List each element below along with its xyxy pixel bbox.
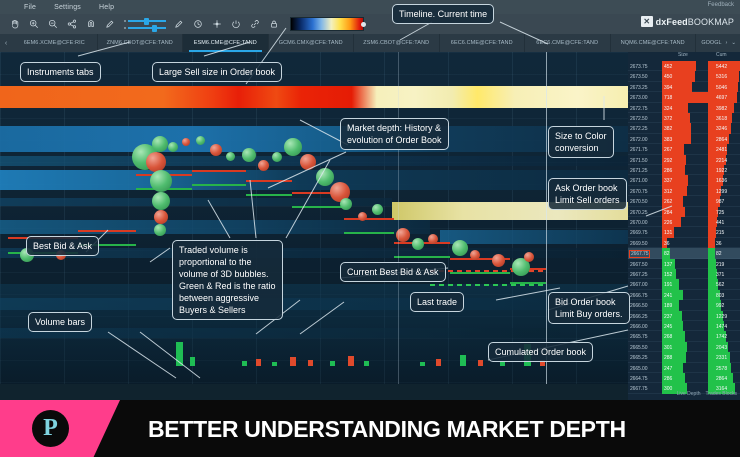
callout-volume-bars: Volume bars (28, 312, 92, 332)
volume-bar (348, 356, 354, 366)
order-book-size-value: 284 (664, 210, 672, 216)
order-book-cumulative-value: 1636 (716, 178, 727, 184)
order-book-size-value: 245 (664, 324, 672, 330)
volume-bar (460, 355, 466, 366)
trade-bubble (182, 138, 190, 146)
callout-last-trade: Last trade (410, 292, 464, 312)
callout-ask-order-book: Ask Order book Limit Sell orders (548, 178, 627, 210)
order-book-size-value: 36 (664, 241, 670, 247)
zoom-out-icon[interactable] (44, 15, 62, 33)
order-book-row[interactable]: 2665.503012043 (628, 342, 740, 352)
menu-item-help[interactable]: Help (99, 4, 114, 11)
order-book-row[interactable]: 2669.503636 (628, 238, 740, 248)
order-book-cumulative-value: 2214 (716, 158, 727, 164)
ask-step-line (246, 180, 292, 182)
order-book-price: 2672.50 (630, 116, 647, 122)
clock-icon[interactable] (189, 15, 207, 33)
trade-bubble (146, 152, 166, 172)
order-book-cumulative-value: 5046 (716, 85, 727, 91)
current-best-bid-dashed (430, 284, 546, 286)
pencil-icon[interactable] (101, 15, 119, 33)
trade-bubble (412, 238, 424, 250)
trade-bubble (196, 136, 205, 145)
order-book-size-value: 262 (664, 199, 672, 205)
trade-bubble (210, 144, 222, 156)
order-book-cumulative-value: 3982 (716, 106, 727, 112)
tab-instrument-7[interactable]: NQM6.CME@CFE:TAND (611, 34, 697, 52)
bid-step-line (192, 184, 246, 186)
order-book-price: 2665.50 (630, 345, 647, 351)
bookmap-mark-icon: ✕ (641, 16, 653, 27)
promo-banner: P BETTER UNDERSTANDING MARKET DEPTH (0, 400, 740, 457)
order-book-size-value: 189 (664, 303, 672, 309)
order-book-price: 2666.50 (630, 303, 647, 309)
callout-instruments-tabs: Instruments tabs (20, 62, 101, 82)
order-book-panel[interactable]: Size Cum 2673.7545254422673.504505316267… (628, 52, 740, 400)
order-book-cumulative-value: 4697 (716, 95, 727, 101)
order-book-size-value: 241 (664, 293, 672, 299)
order-book-row[interactable]: 2673.253945046 (628, 82, 740, 92)
order-book-cumulative-value: 2864 (716, 137, 727, 143)
callout-timeline: Timeline. Current time (392, 4, 494, 24)
tab-instrument-2[interactable]: ESM6.CME@CFE:TAND (183, 34, 269, 52)
callout-cumulated-order-book: Cumulated Order book (488, 342, 593, 362)
brand-product: BOOKMAP (688, 17, 734, 27)
ask-step-line (78, 230, 136, 232)
heatmap-band-blue-2 (0, 170, 628, 190)
banner-logo: P (32, 410, 69, 447)
tab-overflow-area[interactable]: GOOGL › ⌄ (696, 34, 740, 52)
order-book-row[interactable]: 2666.252371229 (628, 311, 740, 321)
market-depth-heatmap-chart[interactable]: 14:32:10 14:32:20 14:32:30 14:32:40 14:3… (0, 52, 628, 384)
trade-bubble (152, 136, 168, 152)
tab-more-arrow-icon[interactable]: ⌄ (731, 40, 736, 46)
order-book-row[interactable]: 2670.753121299 (628, 186, 740, 196)
order-book-row[interactable]: 2672.753243982 (628, 103, 740, 113)
order-book-size-value: 312 (664, 189, 672, 195)
menu-item-settings[interactable]: Settings (54, 4, 81, 11)
order-book-size-value: 337 (664, 178, 672, 184)
trade-bubble (152, 192, 170, 210)
trade-bubble (242, 148, 256, 162)
trade-bubble (258, 160, 269, 171)
hand-tool-icon[interactable] (6, 15, 24, 33)
order-book-row[interactable]: 2667.00191562 (628, 279, 740, 289)
trade-bubble (524, 252, 534, 262)
order-book-size-value: 394 (664, 85, 672, 91)
current-time-line (546, 52, 547, 384)
order-book-size-value: 452 (664, 64, 672, 70)
order-book-size-value: 372 (664, 116, 672, 122)
order-book-size-value: 237 (664, 314, 672, 320)
screenshot-root: File Settings Help Feedback (0, 0, 740, 457)
order-book-row[interactable]: 2665.752681742 (628, 331, 740, 341)
volume-bar (256, 359, 261, 366)
order-book-cumulative-value: 219 (716, 262, 724, 268)
order-book-price: 2671.00 (630, 178, 647, 184)
order-book-price: 2670.50 (630, 199, 647, 205)
heatmap-band-large-sell (0, 86, 628, 108)
order-book-size-value: 131 (664, 230, 672, 236)
order-book-row[interactable]: 2665.002472578 (628, 363, 740, 373)
order-book-price: 2667.25 (630, 272, 647, 278)
order-book-row[interactable]: 2673.754525442 (628, 61, 740, 71)
order-book-price: 2670.75 (630, 189, 647, 195)
trade-bubble (226, 152, 235, 161)
order-book-size-value: 382 (664, 126, 672, 132)
order-book-row[interactable]: 2667.25152371 (628, 269, 740, 279)
order-book-row[interactable]: 2670.25284725 (628, 207, 740, 217)
order-book-price: 2666.00 (630, 324, 647, 330)
order-book-size-value: 191 (664, 282, 672, 288)
banner-logo-letter: P (43, 416, 58, 440)
trade-bubble (154, 224, 166, 236)
tab-instrument-0[interactable]: 6EM6.XCME@CFE:RIC (12, 34, 98, 52)
order-book-cumulative-value: 3246 (716, 126, 727, 132)
order-book-size-value: 137 (664, 262, 672, 268)
order-book-price: 2666.75 (630, 293, 647, 299)
order-book-header: Size Cum (628, 52, 740, 61)
order-book-price: 2669.75 (630, 230, 647, 236)
order-book-cumulative-value: 1299 (716, 189, 727, 195)
tab-instrument-1[interactable]: ZNM6.CBOT@CFE:TAND (98, 34, 184, 52)
order-book-cumulative-value: 2043 (716, 345, 727, 351)
menu-item-file[interactable]: File (24, 4, 36, 11)
order-book-cumulative-value: 2864 (716, 376, 727, 382)
toolbar (0, 14, 740, 34)
order-book-cumulative-bar (708, 238, 715, 248)
order-book-cumulative-value: 3618 (716, 116, 727, 122)
order-book-size-value: 247 (664, 366, 672, 372)
order-book-row[interactable]: 2671.252861922 (628, 165, 740, 175)
order-book-row[interactable]: 2666.50189992 (628, 300, 740, 310)
order-book-price: 2673.50 (630, 74, 647, 80)
instrument-tabstrip: ‹ 6EM6.XCME@CFE:RIC ZNM6.CBOT@CFE:TAND E… (0, 34, 740, 52)
order-book-price: 2669.50 (630, 241, 647, 247)
callout-best-bid-ask: Best Bid & Ask (26, 236, 99, 256)
brand-text: dxFeedBOOKMAP (656, 17, 734, 27)
order-book-row[interactable]: 2664.752862864 (628, 373, 740, 383)
order-book-cumulative-bar (708, 248, 715, 258)
bid-step-line (344, 232, 394, 234)
order-book-price: 2670.25 (630, 210, 647, 216)
volume-bar (436, 359, 441, 366)
trade-bubble (470, 250, 480, 260)
power-icon[interactable] (227, 15, 245, 33)
order-book-size-value: 286 (664, 376, 672, 382)
order-book-price: 2667.00 (630, 282, 647, 288)
bookmap-application-window: File Settings Help Feedback (0, 0, 740, 400)
order-book-row[interactable]: 2672.503723618 (628, 113, 740, 123)
order-book-cumulative-value: 1474 (716, 324, 727, 330)
order-book-cumulative-value: 992 (716, 303, 724, 309)
trade-bubble (150, 170, 172, 192)
order-book-size-value: 267 (664, 147, 672, 153)
order-book-cumulative-value: 36 (716, 241, 722, 247)
order-book-row[interactable]: 2672.253823246 (628, 123, 740, 133)
order-book-price: 2665.00 (630, 366, 647, 372)
volume-bar (308, 360, 313, 366)
order-book-size-value: 288 (664, 355, 672, 361)
order-book-row[interactable]: 2667.50137219 (628, 259, 740, 269)
order-book-price: 2670.00 (630, 220, 647, 226)
trade-bubble (272, 152, 282, 162)
order-book-price: 2672.75 (630, 106, 647, 112)
order-book-row[interactable]: 2671.502922214 (628, 155, 740, 165)
volume-bar (272, 362, 277, 366)
order-book-price: 2666.25 (630, 314, 647, 320)
order-book-row[interactable]: 2666.75241803 (628, 290, 740, 300)
volume-bar (364, 361, 369, 366)
trade-bubble (492, 254, 505, 267)
tab-instrument-3[interactable]: GCM6.CMX@CFE:TAND (269, 34, 355, 52)
size-to-color-gradient[interactable] (290, 17, 364, 31)
order-book-cumulative-value: 803 (716, 293, 724, 299)
order-book-cumulative-value: 5442 (716, 64, 727, 70)
tab-instrument-6[interactable]: 6EC6.CME@CFE:TAND (525, 34, 611, 52)
order-book-cumulative-value: 371 (716, 272, 724, 278)
sliders-icon[interactable] (122, 15, 168, 33)
order-book-size-value: 226 (664, 220, 672, 226)
brand-name: dxFeed (656, 17, 688, 27)
order-book-footer: Live Depth Trades Blocks (628, 388, 740, 400)
tab-end-label: GOOGL (701, 40, 721, 46)
order-book-cumulative-bar (708, 227, 716, 237)
order-book-cumulative-value: 5316 (716, 74, 727, 80)
volume-bar (478, 360, 483, 366)
volume-bar (290, 357, 296, 366)
ask-step-line (192, 170, 246, 172)
order-book-price: 2667.50 (630, 262, 647, 268)
order-book-price: 2672.00 (630, 137, 647, 143)
order-book-price: 2671.50 (630, 158, 647, 164)
bid-step-line (246, 194, 292, 196)
callout-size-to-color: Size to Color conversion (548, 126, 614, 158)
share-icon[interactable] (63, 15, 81, 33)
trade-bubble (284, 138, 302, 156)
volume-bar (330, 361, 335, 366)
trade-bubble (316, 168, 334, 186)
order-book-cumulative-value: 562 (716, 282, 724, 288)
order-book-size-header: Size (678, 52, 688, 58)
order-book-size-value: 268 (664, 334, 672, 340)
trade-bubble (428, 234, 438, 244)
banner-title: BETTER UNDERSTANDING MARKET DEPTH (148, 416, 626, 443)
order-book-cumulative-value: 725 (716, 210, 724, 216)
order-book-cumulative-value: 2331 (716, 355, 727, 361)
trade-bubble (168, 142, 178, 152)
volume-bar (500, 362, 505, 366)
order-book-price: 2671.25 (630, 168, 647, 174)
link-icon[interactable] (246, 15, 264, 33)
volume-bar (420, 362, 425, 366)
gradient-handle[interactable] (361, 22, 366, 27)
order-book-row[interactable]: 2673.504505316 (628, 71, 740, 81)
callout-bid-order-book: Bid Order book Limit Buy orders. (548, 292, 630, 324)
time-gridline (398, 52, 399, 384)
order-book-size-value: 324 (664, 106, 672, 112)
order-book-price: 2673.25 (630, 85, 647, 91)
order-book-row[interactable]: 2666.002451474 (628, 321, 740, 331)
order-book-size-value: 82 (664, 251, 670, 257)
order-book-cumulative-value: 1229 (716, 314, 727, 320)
volume-bar (242, 361, 247, 366)
dxfeed-bookmap-logo: ✕ dxFeedBOOKMAP (641, 16, 734, 27)
order-book-cumulative-value: 987 (716, 199, 724, 205)
ruler-icon[interactable] (170, 15, 188, 33)
order-book-row[interactable]: 2667.758282 (628, 248, 740, 258)
order-book-size-value: 450 (664, 74, 672, 80)
order-book-row[interactable]: 2672.003832864 (628, 134, 740, 144)
menu-bar: File Settings Help Feedback (0, 0, 740, 14)
trade-bubble (372, 204, 383, 215)
lock-icon[interactable] (265, 15, 283, 33)
order-book-cum-header: Cum (716, 52, 727, 58)
order-book-row[interactable]: 2670.00226441 (628, 217, 740, 227)
order-book-price: 2667.75 (629, 250, 650, 258)
order-book-row[interactable]: 2670.50262987 (628, 196, 740, 206)
order-book-price: 2664.75 (630, 376, 647, 382)
order-book-price: 2673.75 (630, 64, 647, 70)
order-book-row[interactable]: 2669.75131215 (628, 227, 740, 237)
volume-bar (176, 342, 183, 366)
order-book-cumulative-value: 2481 (716, 147, 727, 153)
tab-instrument-5[interactable]: 6EC6.CME@CFE:TAND (440, 34, 526, 52)
trade-bubble (300, 154, 316, 170)
trade-bubble (358, 212, 367, 221)
order-book-size-value: 286 (664, 168, 672, 174)
order-book-cumulative-value: 215 (716, 230, 724, 236)
order-book-size-value: 152 (664, 272, 672, 278)
volume-bar (190, 357, 195, 366)
order-book-cumulative-value: 1742 (716, 334, 727, 340)
order-book-price: 2671.75 (630, 147, 647, 153)
bid-step-line (292, 206, 344, 208)
order-book-row[interactable]: 2671.003371636 (628, 175, 740, 185)
order-book-footer-left: Live Depth (677, 391, 701, 397)
trade-bubble (154, 210, 168, 224)
zoom-in-icon[interactable] (25, 15, 43, 33)
heatmap-row-d (440, 230, 628, 244)
trade-bubble (452, 240, 468, 256)
order-book-footer-right: Trades Blocks (706, 391, 738, 397)
order-book-size-value: 383 (664, 137, 672, 143)
trade-bubble (340, 198, 352, 210)
callout-current-best-bid-ask: Current Best Bid & Ask (340, 262, 446, 282)
order-book-row[interactable]: 2673.007184697 (628, 92, 740, 102)
order-book-cumulative-value: 2578 (716, 366, 727, 372)
heatmap-row-e (0, 298, 628, 310)
order-book-price: 2672.25 (630, 126, 647, 132)
tab-next-arrow-icon[interactable]: › (726, 40, 728, 46)
feedback-link[interactable]: Feedback (708, 2, 734, 8)
order-book-size-value: 292 (664, 158, 672, 164)
order-book-cumulative-bar (708, 259, 716, 269)
crosshair-icon[interactable] (208, 15, 226, 33)
heatmap-band-blue-1 (0, 126, 628, 152)
tab-instrument-4[interactable]: ZSM6.CBOT@CFE:TAND (354, 34, 440, 52)
callout-traded-volume: Traded volume is proportional to the vol… (172, 240, 283, 320)
tab-prev-arrow-icon[interactable]: ‹ (0, 34, 12, 52)
order-book-size-value: 301 (664, 345, 672, 351)
bid-step-line (394, 256, 450, 258)
order-book-size-value: 718 (664, 95, 672, 101)
ask-step-line (344, 218, 394, 220)
bid-step-line (450, 272, 510, 274)
callout-market-depth: Market depth: History & evolution of Ord… (340, 118, 449, 150)
order-book-cumulative-value: 1922 (716, 168, 727, 174)
order-book-cumulative-value: 82 (716, 251, 722, 257)
order-book-row[interactable]: 2665.252882331 (628, 352, 740, 362)
order-book-row[interactable]: 2671.752672481 (628, 144, 740, 154)
magnet-icon[interactable] (82, 15, 100, 33)
order-book-cumulative-value: 441 (716, 220, 724, 226)
order-book-price: 2673.00 (630, 95, 647, 101)
callout-large-sell-size: Large Sell size in Order book (152, 62, 282, 82)
order-book-price: 2665.25 (630, 355, 647, 361)
order-book-price: 2665.75 (630, 334, 647, 340)
